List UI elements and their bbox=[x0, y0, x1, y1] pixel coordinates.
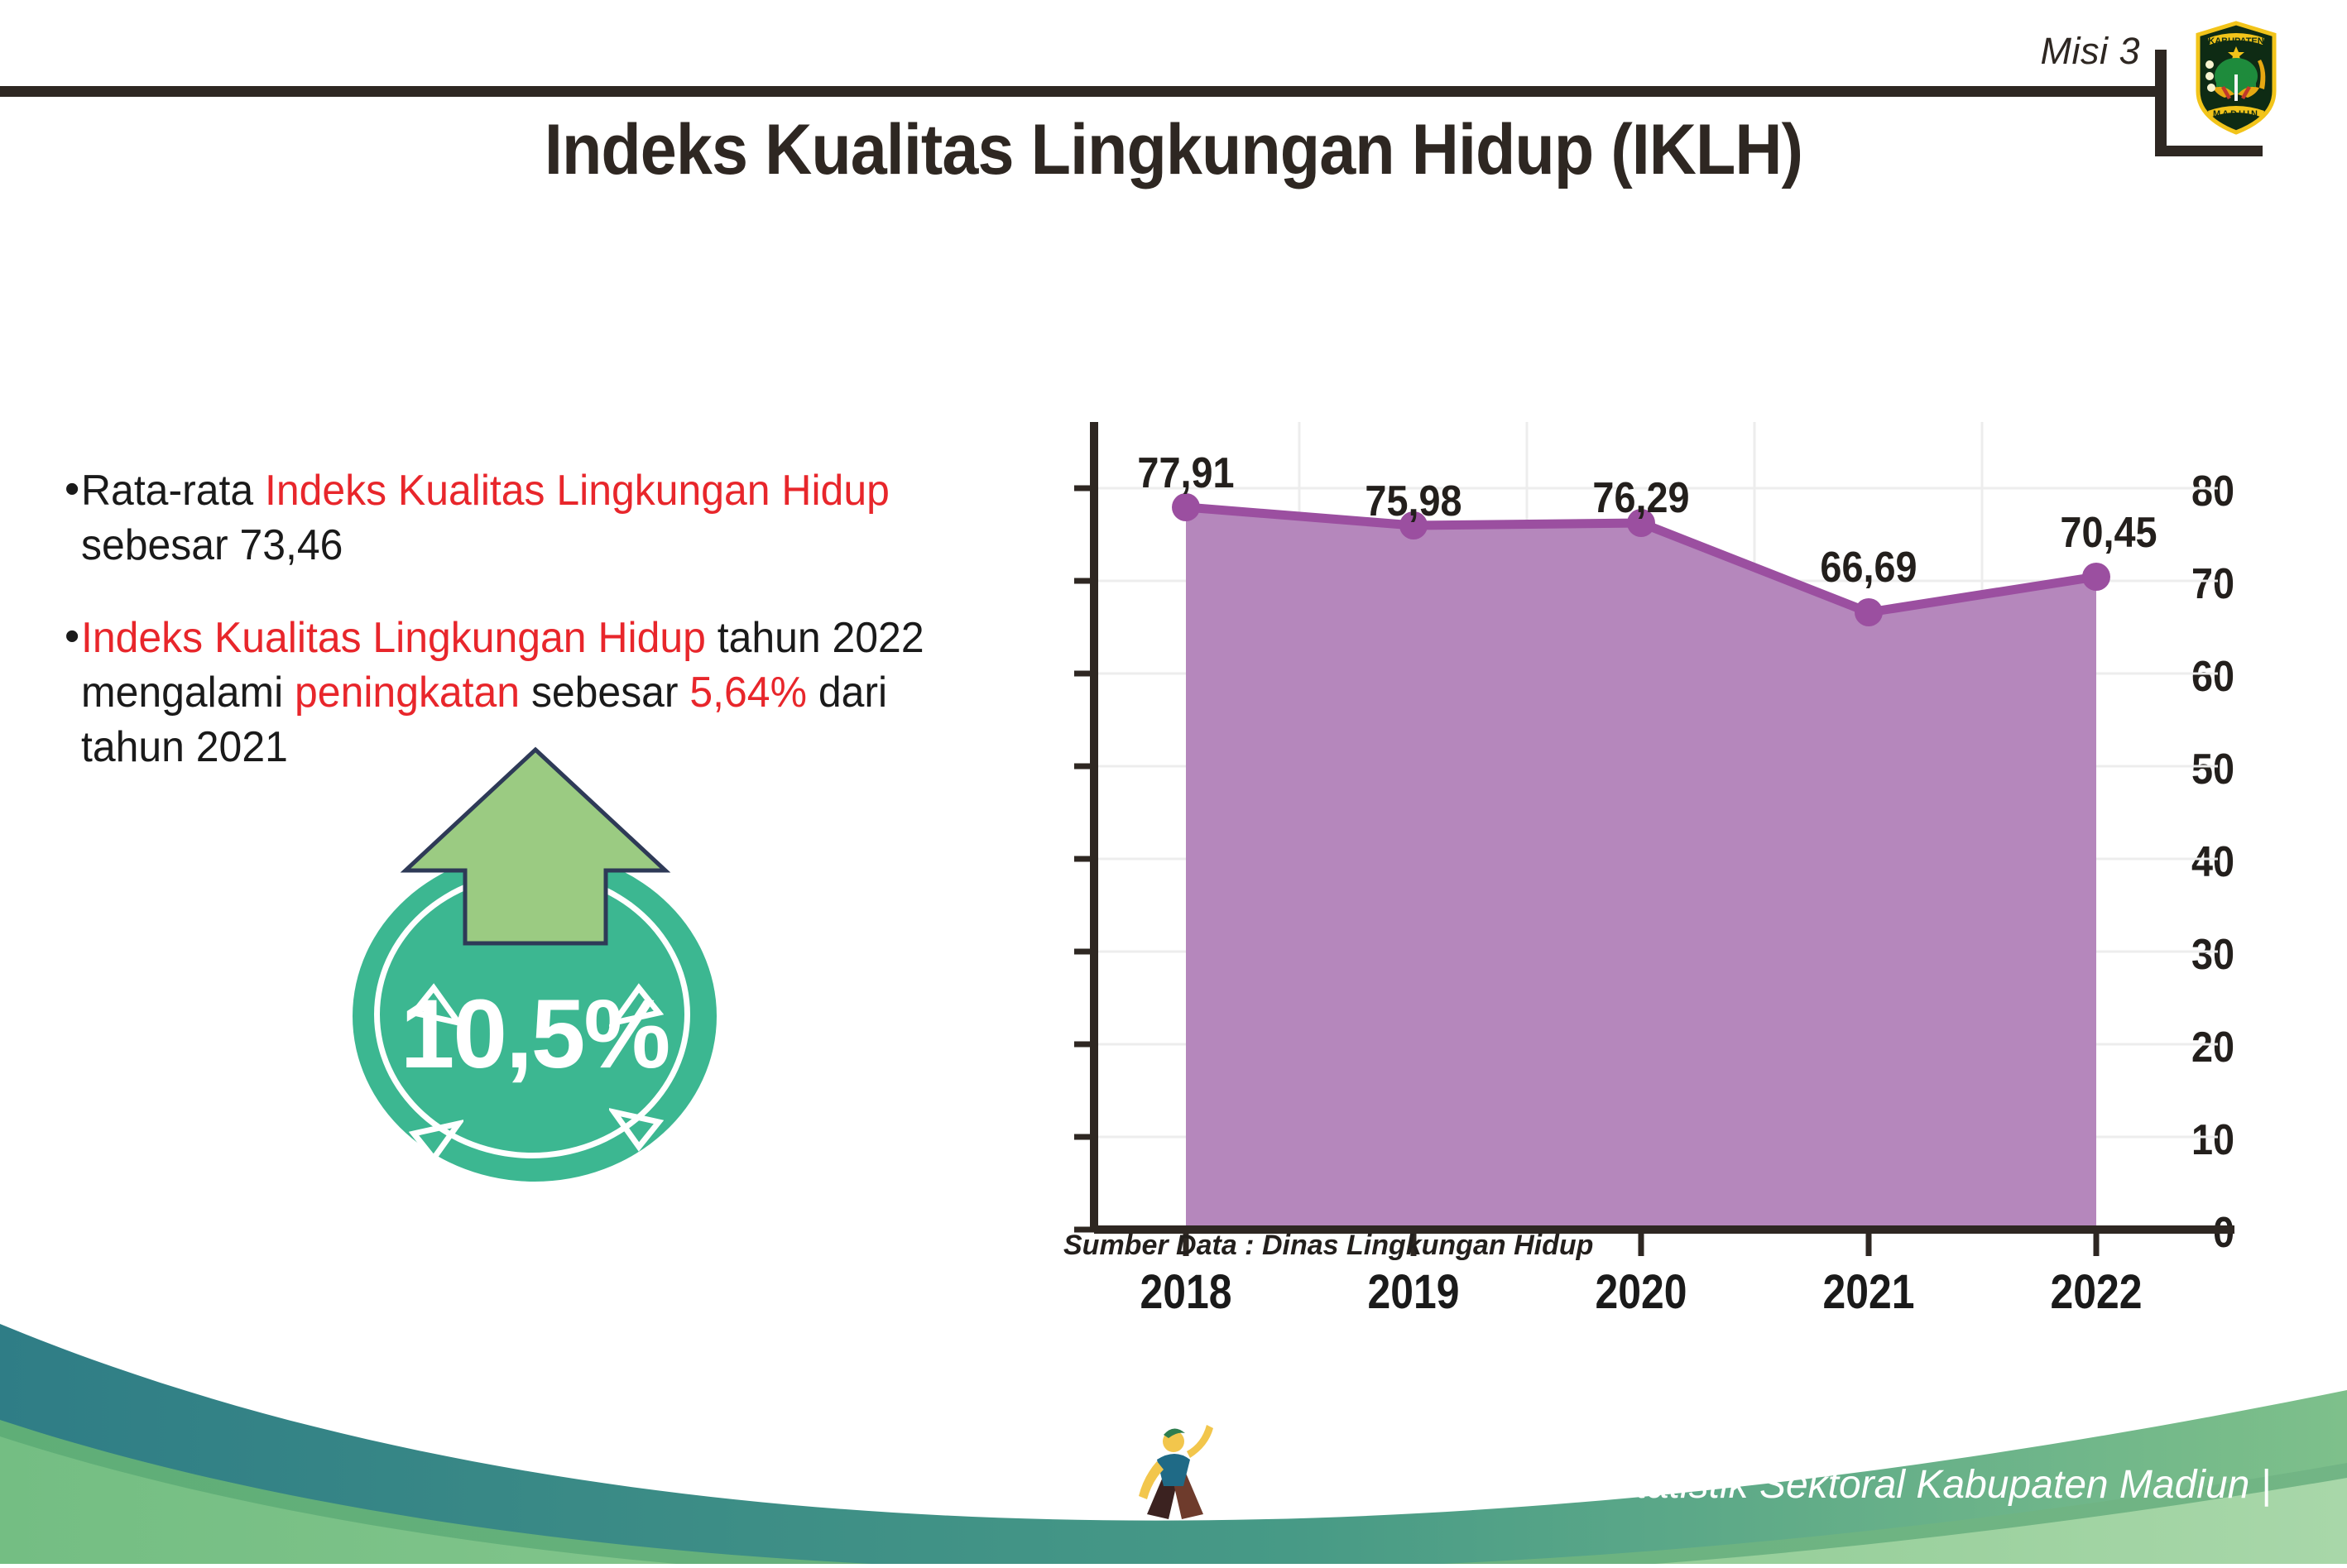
text-segment: sebesar bbox=[520, 669, 689, 717]
text-segment-highlight: Indeks Kualitas Lingkungan Hidup bbox=[265, 467, 890, 515]
header-rule bbox=[0, 86, 2166, 97]
data-label: 75,98 bbox=[1324, 477, 1503, 526]
text-segment-highlight: Indeks Kualitas Lingkungan Hidup bbox=[81, 614, 706, 662]
bullet-text-1: Rata-rata Indeks Kualitas Lingkungan Hid… bbox=[81, 463, 955, 573]
statistics-mascot-icon bbox=[1132, 1417, 1223, 1526]
text-segment-highlight: peningkatan bbox=[295, 669, 520, 717]
badge-tick-bottom-left bbox=[409, 1119, 463, 1163]
iklh-area-chart: 80 70 60 50 40 30 20 10 0 bbox=[977, 298, 2234, 1175]
chart-plot bbox=[977, 298, 2234, 1258]
badge-value: 10,5% bbox=[329, 978, 740, 1091]
arrow-up-icon bbox=[399, 745, 672, 960]
data-label: 70,45 bbox=[2019, 508, 2198, 558]
text-segment: Rata-rata bbox=[81, 467, 265, 515]
data-label: 66,69 bbox=[1779, 543, 1958, 592]
text-segment-highlight: 5,64% bbox=[690, 669, 808, 717]
badge-tick-bottom-right bbox=[609, 1107, 664, 1152]
footer-text: Media Infografis Data Statistik Sektoral… bbox=[1221, 1462, 2271, 1508]
svg-text:KABUPATEN: KABUPATEN bbox=[2208, 36, 2263, 46]
chart-area-fill bbox=[1186, 507, 2096, 1230]
bullet-dot: • bbox=[65, 463, 79, 573]
increase-badge: 10,5% bbox=[329, 745, 740, 1183]
bullet-dot: • bbox=[65, 611, 79, 774]
chart-source-label: Sumber Data : Dinas Lingkungan Hidup bbox=[1063, 1230, 1593, 1262]
data-label: 76,29 bbox=[1552, 473, 1730, 523]
footer: Media Infografis Data Statistik Sektoral… bbox=[0, 1291, 2347, 1564]
misi-label: Misi 3 bbox=[2040, 30, 2140, 73]
page-title: Indeks Kualitas Lingkungan Hidup (IKLH) bbox=[94, 109, 2253, 191]
list-item: • Rata-rata Indeks Kualitas Lingkungan H… bbox=[65, 463, 991, 573]
data-label: 77,91 bbox=[1097, 448, 1275, 498]
text-segment: sebesar 73,46 bbox=[81, 521, 343, 569]
